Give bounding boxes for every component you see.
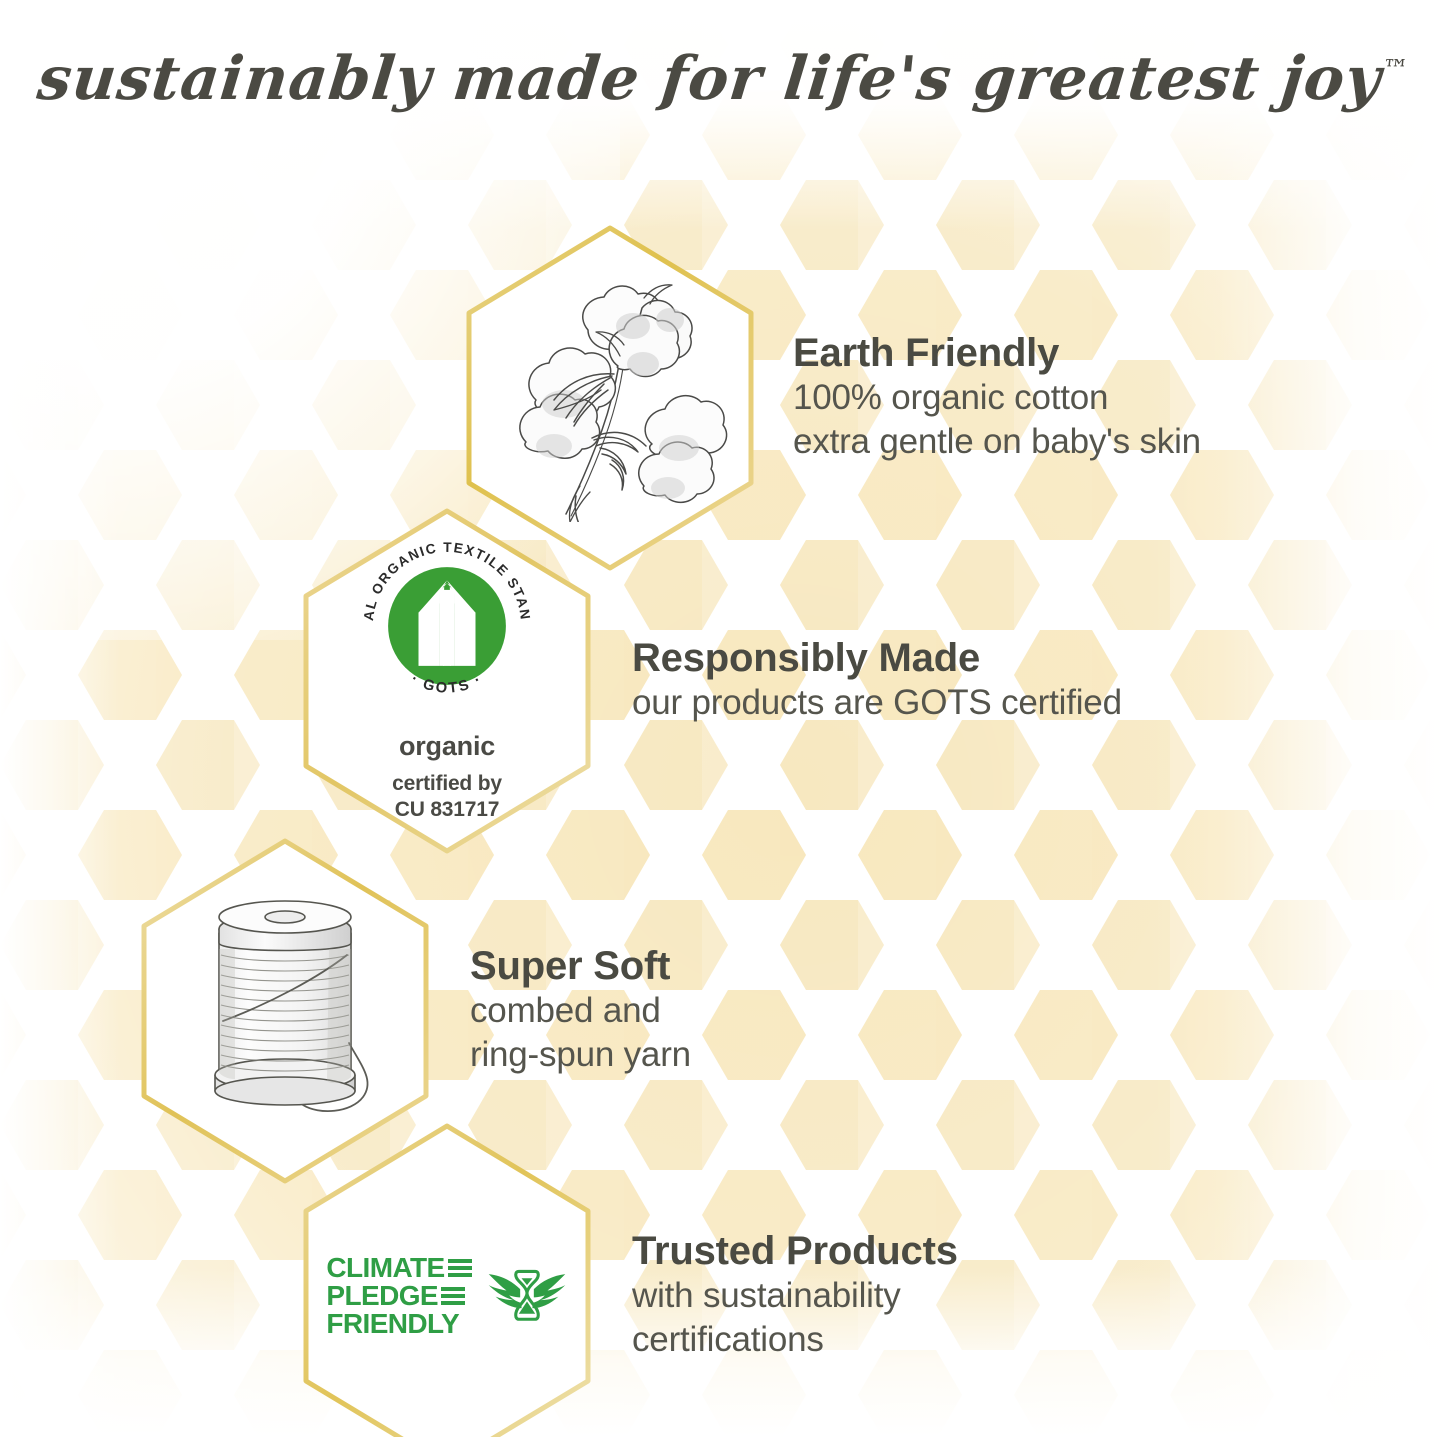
feature-line: ring-spun yarn: [470, 1033, 691, 1078]
gots-seal-icon: GLOBAL ORGANIC TEXTILE STANDARD · GOTS ·: [352, 531, 542, 721]
feature-title: Responsibly Made: [632, 636, 1122, 681]
cpf-line-3: FRIENDLY: [326, 1310, 459, 1338]
feature-trusted-products: CLIMATE PLEDGE FRIENDLY: [292, 1120, 958, 1437]
background-fade-left: [0, 0, 120, 1437]
gots-certified-by-label: certified by: [392, 771, 502, 797]
background-fade-right: [1145, 0, 1445, 1437]
gots-organic-label: organic: [399, 731, 495, 762]
climate-pledge-wordmark: CLIMATE PLEDGE FRIENDLY: [326, 1254, 471, 1338]
feature-line: with sustainability: [632, 1274, 958, 1319]
cpf-bars-icon: [441, 1287, 465, 1305]
feature-line: extra gentle on baby's skin: [793, 420, 1201, 465]
headline-tagline: sustainably made for life's greatest joy…: [0, 44, 1445, 114]
cpf-bars-icon: [448, 1259, 472, 1277]
feature-text-responsibly-made: Responsibly Made our products are GOTS c…: [632, 636, 1122, 726]
gots-certificate-number: CU 831717: [392, 797, 502, 823]
trademark-symbol: ™: [1381, 55, 1410, 85]
thread-spool-sketch-icon: [179, 893, 391, 1129]
feature-line: certifications: [632, 1318, 958, 1363]
gots-certification-logo: GLOBAL ORGANIC TEXTILE STANDARD · GOTS ·…: [352, 531, 542, 822]
feature-title: Super Soft: [470, 944, 691, 989]
promo-graphic: sustainably made for life's greatest joy…: [0, 0, 1445, 1437]
climate-pledge-friendly-logo: CLIMATE PLEDGE FRIENDLY: [326, 1254, 567, 1338]
feature-responsibly-made: GLOBAL ORGANIC TEXTILE STANDARD · GOTS ·…: [292, 505, 1122, 857]
feature-title: Trusted Products: [632, 1229, 958, 1274]
background-fade-top: [0, 0, 1445, 230]
hex-card-trusted-products: CLIMATE PLEDGE FRIENDLY: [292, 1120, 602, 1437]
cotton-plant-sketch-icon: [492, 274, 728, 522]
cpf-line-2: PLEDGE: [326, 1282, 438, 1310]
cpf-line-1: CLIMATE: [326, 1254, 444, 1282]
feature-line: our products are GOTS certified: [632, 681, 1122, 726]
feature-text-super-soft: Super Soft combed and ring-spun yarn: [470, 944, 691, 1078]
feature-title: Earth Friendly: [793, 331, 1201, 376]
feature-line: 100% organic cotton: [793, 376, 1201, 421]
feature-text-trusted-products: Trusted Products with sustainability cer…: [632, 1229, 958, 1363]
feature-text-earth-friendly: Earth Friendly 100% organic cotton extra…: [793, 331, 1201, 465]
hex-card-responsibly-made: GLOBAL ORGANIC TEXTILE STANDARD · GOTS ·…: [292, 505, 602, 857]
winged-hourglass-icon: [486, 1264, 568, 1328]
headline-text: sustainably made for life's greatest joy: [34, 44, 1385, 114]
feature-line: combed and: [470, 989, 691, 1034]
gots-certified-by: certified by CU 831717: [392, 771, 502, 822]
